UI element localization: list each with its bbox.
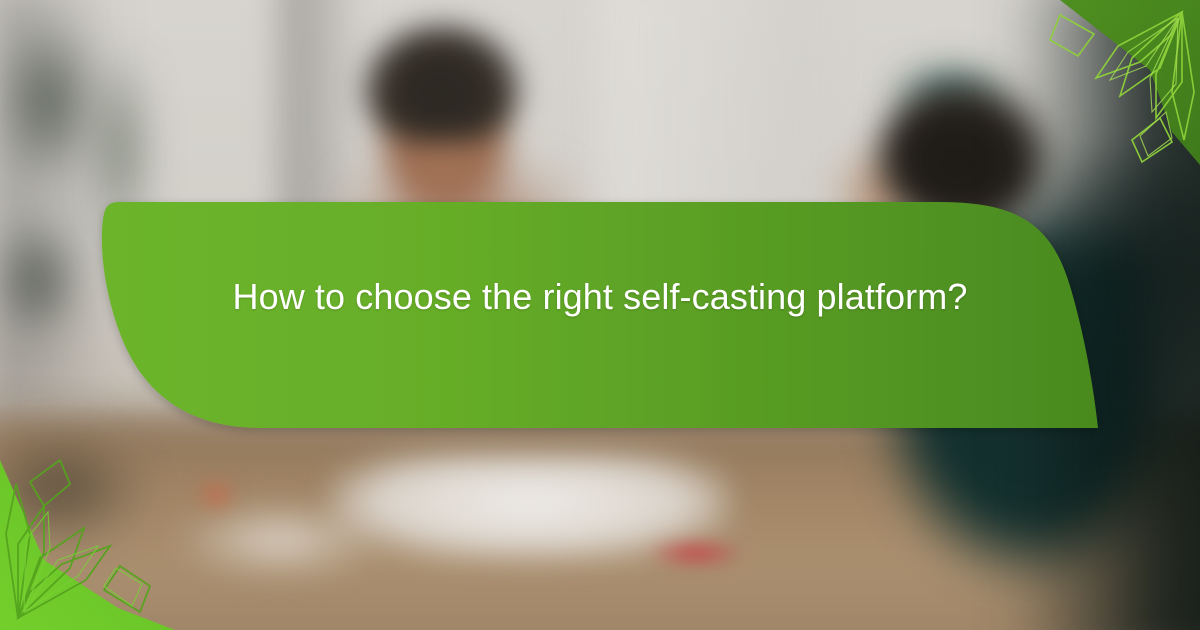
banner-title: How to choose the right self-casting pla… [150, 268, 1050, 325]
banner-canvas: How to choose the right self-casting pla… [0, 0, 1200, 630]
